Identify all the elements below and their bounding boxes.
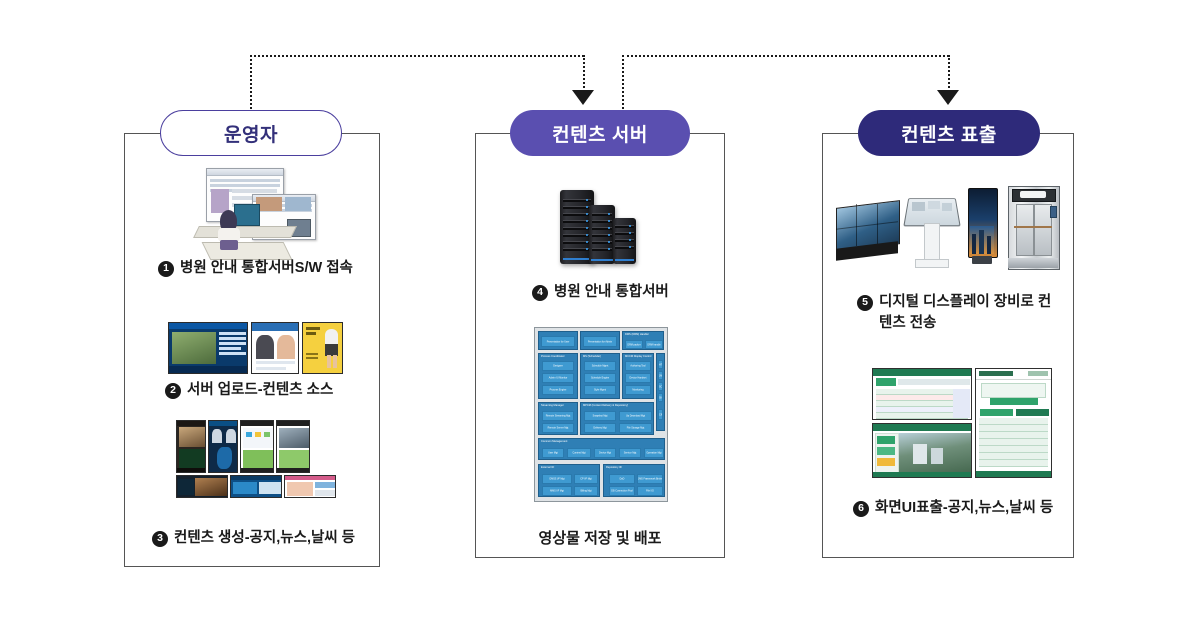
arch-group: MPCM (Content Delivery & Repository) Sna… — [580, 402, 654, 435]
generated-content-thumbnails — [176, 420, 336, 498]
step-number-2: 2 — [165, 383, 181, 399]
server-tower-medium — [589, 205, 615, 264]
caption-step-4-text: 병원 안내 통합서버 — [554, 282, 669, 303]
content-source-thumbnails — [168, 322, 343, 374]
elevator-display-icon — [1008, 186, 1058, 268]
standing-signage-icon — [966, 188, 998, 268]
caption-step-1: 1 병원 안내 통합서버S/W 접속 — [158, 258, 373, 279]
thumbnail-portrait-1 — [176, 420, 206, 473]
arch-group: Process Coordinator Designer Admin UI Mo… — [538, 353, 578, 399]
connector-segment-vertical — [583, 55, 585, 95]
badge-content-server-label: 컨텐츠 서버 — [552, 120, 648, 147]
thumbnail-poster — [302, 322, 343, 374]
arch-group: MCCM Display Control Authoring Tool Devi… — [622, 353, 654, 399]
badge-operator[interactable]: 운영자 — [160, 110, 342, 156]
step-number-1: 1 — [158, 261, 174, 277]
server-tower-small — [613, 218, 636, 264]
caption-step-6: 6 화면UI표출-공지,뉴스,날씨 등 — [853, 498, 1068, 519]
badge-content-server[interactable]: 컨텐츠 서버 — [510, 110, 690, 156]
step-number-4: 4 — [532, 285, 548, 301]
caption-step-5-text: 디지털 디스플레이 장비로 컨텐츠 전송 — [879, 292, 1057, 334]
caption-server-footer: 영상물 저장 및 배포 — [475, 527, 725, 548]
touch-kiosk-icon — [906, 196, 956, 268]
thumbnail-portal — [251, 322, 299, 374]
caption-step-2: 2 서버 업로드-컨텐츠 소스 — [165, 380, 370, 401]
arch-group-adapter: HTTP JMS SOAP SNMP CIM — [656, 353, 665, 431]
caption-step-1-text: 병원 안내 통합서버S/W 접속 — [180, 258, 353, 279]
caption-step-4: 4 병원 안내 통합서버 — [532, 282, 712, 303]
desk-surface — [193, 226, 297, 238]
video-wall-icon — [836, 204, 898, 266]
step-number-6: 6 — [853, 501, 869, 517]
arch-group: Common Management User Mgt Content Mgt D… — [538, 438, 665, 460]
thumbnail-news — [168, 322, 248, 374]
thumbnail-portrait-4 — [276, 420, 310, 473]
caption-step-5: 5 디지털 디스플레이 장비로 컨텐츠 전송 — [857, 292, 1057, 334]
arch-group: External I/F DMSS I/F Mgt CP I/F Mgt MMS… — [538, 464, 600, 497]
operator-workstation-illustration — [196, 168, 318, 260]
server-architecture-diagram: Presentation for User Presentation for A… — [534, 327, 668, 502]
hospital-ui-screens — [872, 368, 1052, 478]
thumbnail-portrait-2 — [208, 420, 238, 473]
arch-group: Streaming Manager Remote Streaming Mgt R… — [538, 402, 578, 435]
thumbnail-portrait-3 — [240, 420, 274, 473]
arch-group: MS (Scheduler) Schedule Mgmt Schedule En… — [580, 353, 620, 399]
thumbnail-wide-2 — [230, 475, 282, 498]
arch-group: Presentation for User — [538, 331, 578, 350]
caption-step-6-text: 화면UI표출-공지,뉴스,날씨 등 — [875, 498, 1053, 519]
person-chair — [220, 240, 238, 250]
hospital-schedule-screen — [872, 368, 972, 420]
caption-step-3-text: 컨텐츠 생성-공지,뉴스,날씨 등 — [174, 528, 355, 549]
server-rack-illustration — [560, 190, 644, 264]
arch-group: Presentation for Admin — [580, 331, 620, 350]
arch-group: DMS (DRM) Handler DRM packer DRM handle — [622, 331, 664, 350]
arrow-down-icon — [572, 90, 594, 105]
display-device-lineup — [836, 186, 1058, 268]
badge-content-display-label: 컨텐츠 표출 — [901, 120, 997, 147]
caption-step-3: 3 컨텐츠 생성-공지,뉴스,날씨 등 — [152, 528, 377, 549]
thumbnail-wide-3 — [284, 475, 336, 498]
caption-step-2-text: 서버 업로드-컨텐츠 소스 — [187, 380, 333, 401]
connector-segment-vertical — [948, 55, 950, 95]
arch-group: Repository I/F DoD JMS Framework Broker … — [603, 464, 665, 497]
badge-operator-label: 운영자 — [224, 120, 278, 147]
connector-segment-horizontal — [250, 55, 584, 57]
arrow-down-icon — [937, 90, 959, 105]
thumbnail-wide-1 — [176, 475, 228, 498]
step-number-5: 5 — [857, 295, 873, 311]
connector-segment-horizontal — [622, 55, 949, 57]
hospital-queue-screen — [975, 368, 1052, 478]
badge-content-display[interactable]: 컨텐츠 표출 — [858, 110, 1040, 156]
hospital-map-screen — [872, 423, 972, 478]
step-number-3: 3 — [152, 531, 168, 547]
monitor-icon — [234, 204, 260, 226]
diagram-canvas: 운영자 1 병원 안내 통합서버S/W 접속 — [0, 0, 1200, 620]
